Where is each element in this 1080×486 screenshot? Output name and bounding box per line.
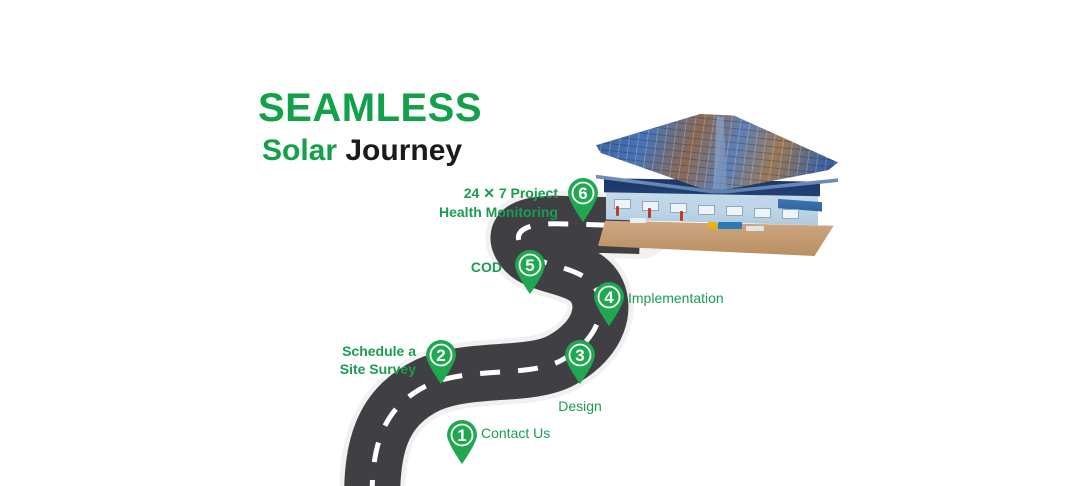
step-marker-4[interactable]: 4 [592, 281, 626, 327]
step-label-3: Design [535, 398, 625, 416]
infographic-canvas: SEAMLESS Solar Journey [0, 0, 1080, 486]
step-marker-1[interactable]: 1 [445, 419, 479, 465]
step-label-6-line-2: Health Monitoring [439, 204, 558, 220]
step-label-5: COD [430, 259, 502, 277]
map-pin-icon [445, 419, 479, 465]
map-pin-icon [563, 339, 597, 385]
step-marker-3[interactable]: 3 [563, 339, 597, 385]
step-label-6-line-1: 24 ✕ 7 Project [464, 185, 558, 201]
map-pin-icon [513, 249, 547, 295]
step-marker-6[interactable]: 6 [566, 177, 600, 223]
ground-platform [598, 220, 836, 256]
step-label-6: 24 ✕ 7 ProjectHealth Monitoring [410, 184, 558, 222]
step-label-2-line-1: Schedule a [342, 343, 416, 359]
solar-warehouse-illustration [592, 112, 842, 258]
map-pin-icon [424, 339, 458, 385]
step-label-2-line-2: Site Survey [340, 361, 416, 377]
step-label-4: Implementation [628, 290, 724, 308]
step-label-2: Schedule aSite Survey [298, 343, 416, 378]
step-label-1: Contact Us [481, 425, 550, 443]
building-windows [612, 196, 812, 214]
map-pin-icon [566, 177, 600, 223]
step-marker-2[interactable]: 2 [424, 339, 458, 385]
step-marker-5[interactable]: 5 [513, 249, 547, 295]
map-pin-icon [592, 281, 626, 327]
